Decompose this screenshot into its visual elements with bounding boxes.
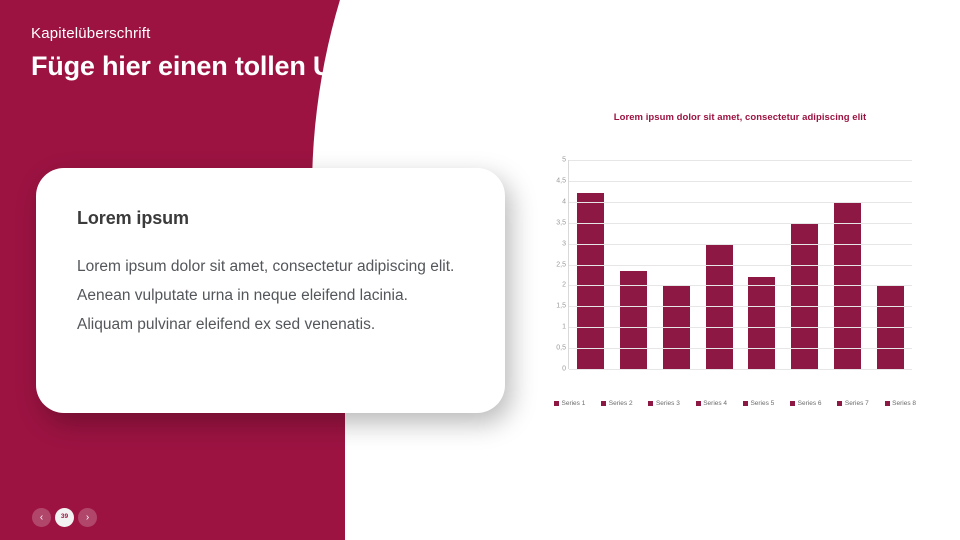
chart-title: Lorem ipsum dolor sit amet, consectetur …: [554, 112, 926, 123]
legend-label: Series 7: [845, 400, 869, 407]
legend-swatch: [601, 401, 606, 406]
bar-chart: Lorem ipsum dolor sit amet, consectetur …: [540, 112, 930, 422]
slide-header: Kapitelüberschrift Füge hier einen tolle…: [31, 24, 591, 84]
legend-label: Series 5: [750, 400, 774, 407]
slide-navigation: ‹ 39 ›: [32, 508, 97, 527]
slide-title: Füge hier einen tollen Untertitel ein: [31, 48, 591, 84]
y-axis-tick: 4,5: [556, 177, 566, 184]
content-card: Lorem ipsum Lorem ipsum dolor sit amet, …: [36, 168, 505, 413]
chart-gridline: [569, 160, 912, 161]
chart-bar: [791, 223, 818, 369]
card-heading: Lorem ipsum: [77, 206, 461, 230]
legend-swatch: [554, 401, 559, 406]
chart-plot: [568, 160, 912, 369]
chart-plot-area: 54,543,532,521,510,50: [540, 160, 930, 388]
chart-gridline: [569, 348, 912, 349]
y-axis-tick: 2,5: [556, 261, 566, 268]
slide: Kapitelüberschrift Füge hier einen tolle…: [0, 0, 960, 540]
legend-swatch: [837, 401, 842, 406]
legend-label: Series 2: [609, 400, 633, 407]
legend-label: Series 6: [798, 400, 822, 407]
chart-gridline: [569, 223, 912, 224]
y-axis-tick: 4: [562, 198, 566, 205]
y-axis-tick: 3: [562, 240, 566, 247]
legend-swatch: [648, 401, 653, 406]
chapter-kicker: Kapitelüberschrift: [31, 24, 591, 44]
legend-label: Series 1: [562, 400, 586, 407]
legend-item: Series 7: [837, 400, 868, 407]
chart-bar: [577, 193, 604, 369]
y-axis-tick: 0: [562, 366, 566, 373]
chevron-right-icon[interactable]: ›: [78, 508, 97, 527]
legend-swatch: [790, 401, 795, 406]
chart-bar: [748, 277, 775, 369]
y-axis-tick: 3,5: [556, 219, 566, 226]
chart-gridline: [569, 265, 912, 266]
y-axis-tick: 1: [562, 324, 566, 331]
y-axis-labels: 54,543,532,521,510,50: [540, 160, 566, 369]
chart-gridline: [569, 306, 912, 307]
legend-item: Series 5: [743, 400, 774, 407]
legend-item: Series 6: [790, 400, 821, 407]
chart-gridline: [569, 327, 912, 328]
legend-item: Series 1: [554, 400, 585, 407]
chart-gridline: [569, 181, 912, 182]
legend-label: Series 8: [892, 400, 916, 407]
y-axis-tick: 0,5: [556, 345, 566, 352]
legend-swatch: [885, 401, 890, 406]
legend-swatch: [743, 401, 748, 406]
legend-item: Series 4: [696, 400, 727, 407]
legend-swatch: [696, 401, 701, 406]
page-number-badge[interactable]: 39: [55, 508, 74, 527]
y-axis-tick: 5: [562, 157, 566, 164]
content-card-inner: Lorem ipsum Lorem ipsum dolor sit amet, …: [36, 168, 505, 339]
chart-gridline: [569, 369, 912, 370]
legend-label: Series 3: [656, 400, 680, 407]
legend-item: Series 8: [885, 400, 916, 407]
legend-label: Series 4: [703, 400, 727, 407]
legend-item: Series 2: [601, 400, 632, 407]
chart-gridline: [569, 244, 912, 245]
chevron-left-icon[interactable]: ‹: [32, 508, 51, 527]
y-axis-tick: 1,5: [556, 303, 566, 310]
y-axis-tick: 2: [562, 282, 566, 289]
card-paragraph: Lorem ipsum dolor sit amet, consectetur …: [77, 252, 461, 339]
chart-legend: Series 1Series 2Series 3Series 4Series 5…: [554, 400, 916, 407]
chart-gridline: [569, 202, 912, 203]
chart-gridline: [569, 285, 912, 286]
legend-item: Series 3: [648, 400, 679, 407]
